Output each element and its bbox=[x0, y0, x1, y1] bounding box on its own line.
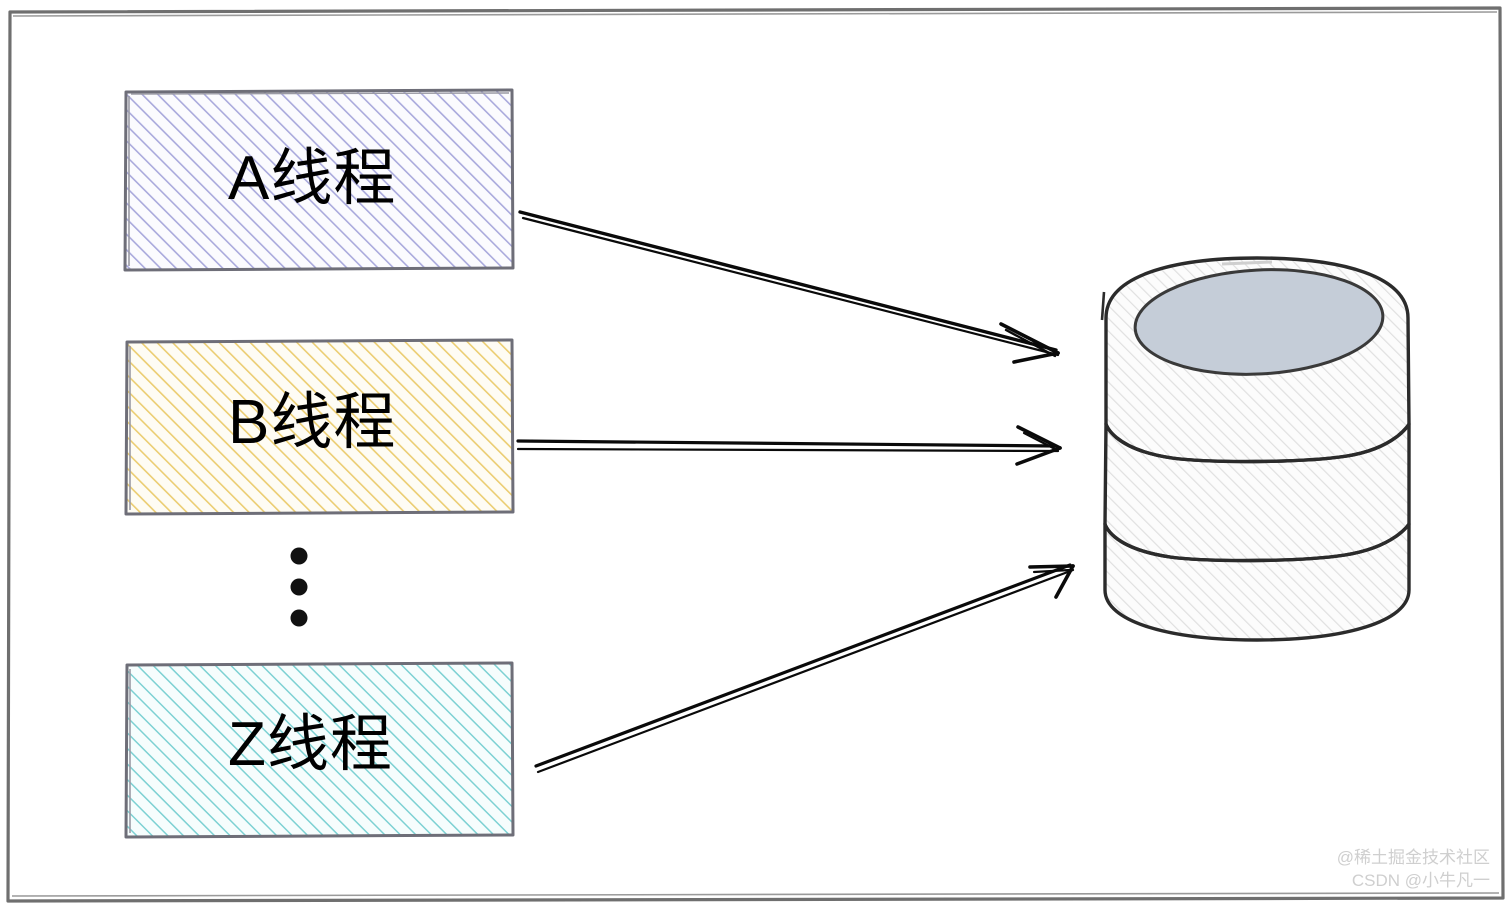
diagram-vector-layer bbox=[0, 0, 1512, 911]
arrow-a-to-db bbox=[520, 212, 1058, 362]
arrow-b-to-db bbox=[518, 427, 1060, 464]
thread-label-b: B线程 bbox=[228, 392, 396, 454]
watermark-line-2: CSDN @小牛凡一 bbox=[1337, 870, 1490, 893]
arrow-z-to-db bbox=[536, 565, 1073, 772]
watermark-line-1: @稀土掘金技术社区 bbox=[1337, 847, 1490, 870]
ellipsis-dots bbox=[291, 548, 308, 627]
thread-label-a: A线程 bbox=[228, 148, 396, 210]
diagram-canvas: A线程 B线程 Z线程 @稀土掘金技术社区 CSDN @小牛凡一 bbox=[0, 0, 1512, 911]
database-cylinder[interactable] bbox=[1102, 258, 1409, 640]
thread-label-z: Z线程 bbox=[228, 714, 393, 776]
watermark: @稀土掘金技术社区 CSDN @小牛凡一 bbox=[1337, 847, 1490, 893]
